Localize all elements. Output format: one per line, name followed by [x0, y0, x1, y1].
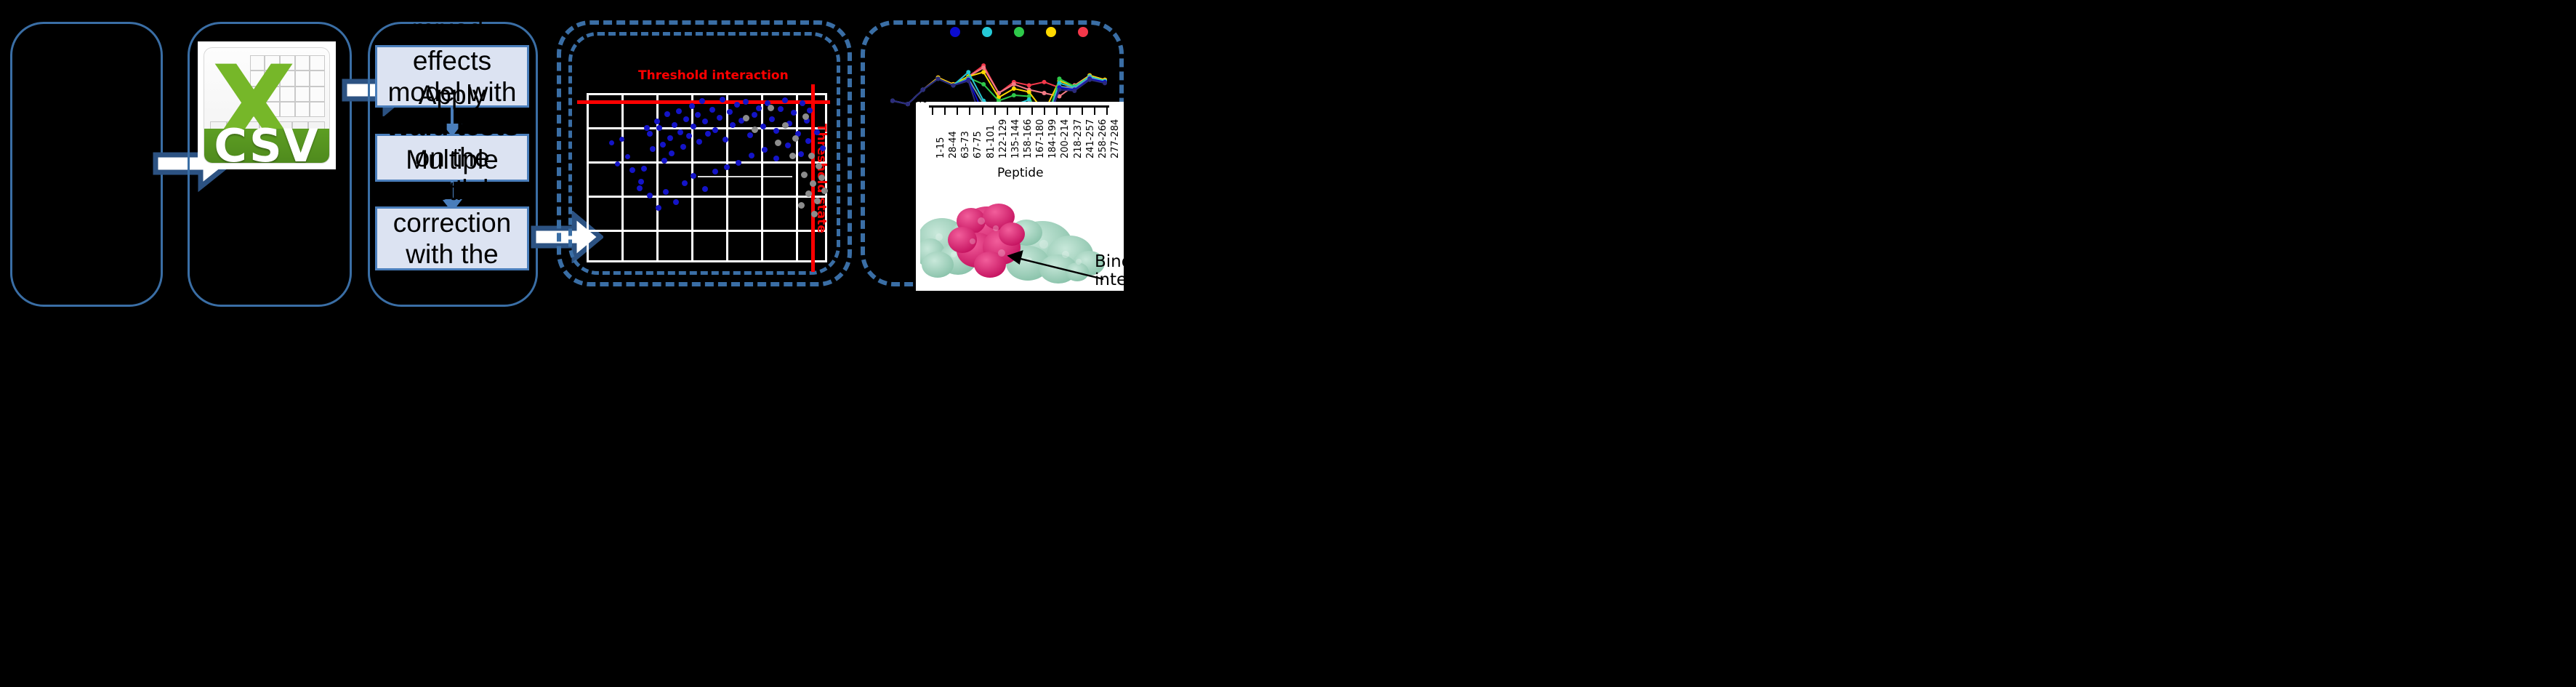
chart-point	[981, 82, 986, 87]
y-tick-label-0: 0.0	[916, 102, 928, 105]
x-tick-label: 218-237	[1073, 119, 1084, 158]
chart-point	[921, 87, 925, 92]
binding-interface-line2: interface	[1095, 270, 1124, 289]
chart-point	[1012, 93, 1016, 97]
x-tick	[1056, 108, 1058, 115]
x-tick-label: 200-214	[1060, 119, 1071, 158]
x-tick	[1094, 108, 1095, 115]
x-tick-label: 63-73	[960, 131, 971, 158]
chart-point	[1027, 89, 1031, 94]
x-tick-label: 67-75	[973, 131, 983, 158]
csv-file-icon: X CSV	[198, 41, 336, 169]
csv-band: CSV	[204, 129, 329, 163]
binding-interface-line1: Binding	[1095, 252, 1124, 271]
x-tick	[1044, 108, 1045, 115]
chart-point	[1072, 89, 1076, 93]
x-tick	[957, 108, 958, 115]
x-tick	[1031, 108, 1033, 115]
x-tick-label: 28-44	[948, 131, 959, 158]
legend-dot	[982, 27, 992, 37]
x-tick	[1082, 108, 1083, 115]
x-tick-label: 258-266	[1098, 119, 1108, 158]
binding-interface-callout: Binding interface	[1095, 253, 1124, 290]
x-tick-label: 81-101	[986, 125, 997, 158]
chart-point	[890, 99, 895, 103]
x-tick-label: 135-144	[1010, 119, 1021, 158]
x-tick	[994, 108, 996, 115]
chart-legend	[882, 20, 1115, 42]
legend-dot	[1014, 27, 1024, 37]
chart-point	[966, 79, 970, 83]
x-tick	[944, 108, 946, 115]
excel-x-glyph: X	[212, 55, 254, 121]
x-tick	[969, 108, 970, 115]
chart-point	[1012, 82, 1016, 87]
x-tick	[982, 108, 983, 115]
volcano-scatter-plot: Threshold interaction Threshold state	[574, 36, 836, 270]
x-tick	[932, 108, 933, 115]
chart-point	[1103, 81, 1107, 85]
step-bh-box[interactable]: Multiple testing correctionwith the BH p…	[375, 206, 529, 270]
chart-point	[1042, 91, 1047, 95]
x-tick-label: 184-199	[1047, 119, 1058, 158]
x-tick-label: 241-257	[1085, 119, 1096, 158]
threshold-interaction-label: Threshold interaction	[638, 68, 789, 83]
x-tick-label: 167-180	[1035, 119, 1046, 158]
step-bh-text: Multiple testing correctionwith the BH p…	[385, 144, 520, 333]
chart-point	[951, 83, 955, 87]
protein-structure-image	[920, 183, 1111, 289]
chart-point	[966, 70, 970, 74]
x-tick	[1106, 108, 1108, 115]
x-tick	[1019, 108, 1021, 115]
chart-point	[981, 70, 986, 74]
x-tick-label: 277-284	[1110, 119, 1121, 158]
chart-point	[1012, 87, 1016, 91]
x-tick-label: 1-15	[935, 137, 946, 158]
chart-point	[1042, 80, 1047, 84]
chart-point	[906, 102, 910, 106]
x-axis-title: Peptide	[997, 166, 1044, 180]
peptide-structure-figure: 0.0 1-1528-4463-7367-7581-101122-129135-…	[916, 102, 1124, 291]
csv-band-label: CSV	[214, 119, 319, 164]
chart-point	[981, 65, 986, 70]
chart-point	[1027, 83, 1031, 87]
x-tick-label: 122-129	[998, 119, 1009, 158]
chart-point	[936, 76, 941, 81]
x-tick-label: 158-166	[1023, 119, 1034, 158]
x-tick	[1007, 108, 1008, 115]
chart-point	[1057, 87, 1061, 92]
legend-dot	[950, 27, 960, 37]
chart-point	[1087, 78, 1092, 82]
input-panel	[10, 22, 163, 307]
x-tick	[1069, 108, 1071, 115]
legend-dot	[1046, 27, 1056, 37]
chart-point	[1057, 76, 1061, 81]
legend-dot	[1078, 27, 1088, 37]
